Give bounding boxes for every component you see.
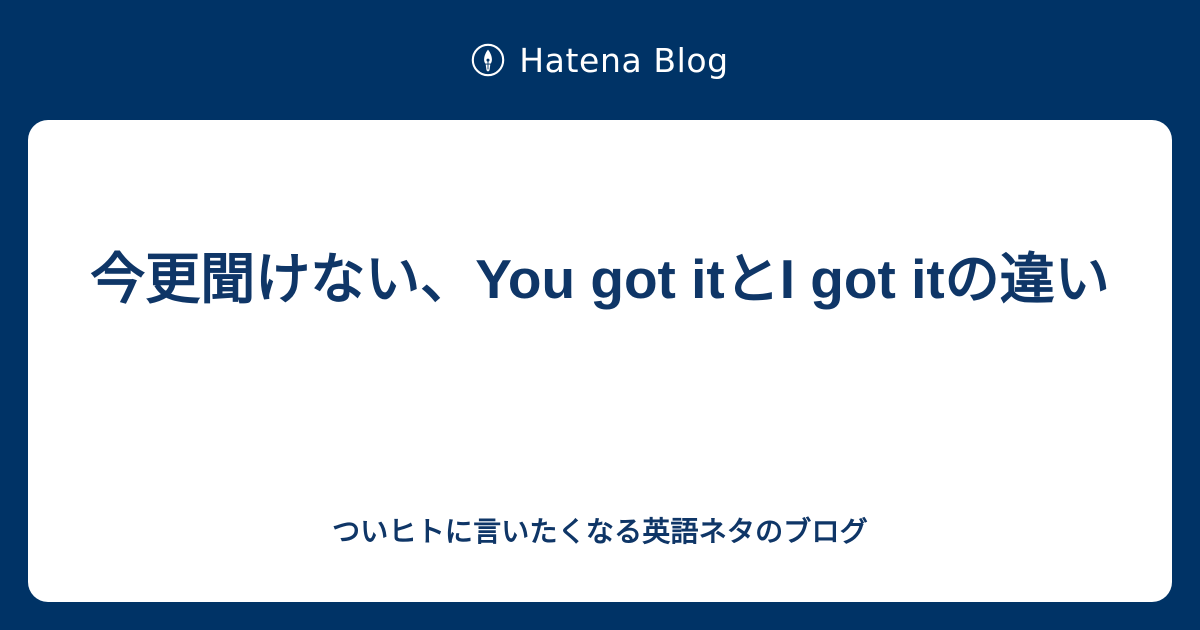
ogp-share-card: Hatena Blog 今更聞けない、You got itとI got itの違… (0, 0, 1200, 630)
blog-title: ついヒトに言いたくなる英語ネタのブログ (28, 512, 1172, 552)
fountain-pen-nib-circle-icon (471, 43, 505, 77)
brand-header: Hatena Blog (0, 0, 1200, 120)
entry-title: 今更聞けない、You got itとI got itの違い (28, 241, 1172, 317)
entry-card: 今更聞けない、You got itとI got itの違い ついヒトに言いたくな… (28, 120, 1172, 602)
brand-name: Hatena Blog (519, 44, 728, 77)
